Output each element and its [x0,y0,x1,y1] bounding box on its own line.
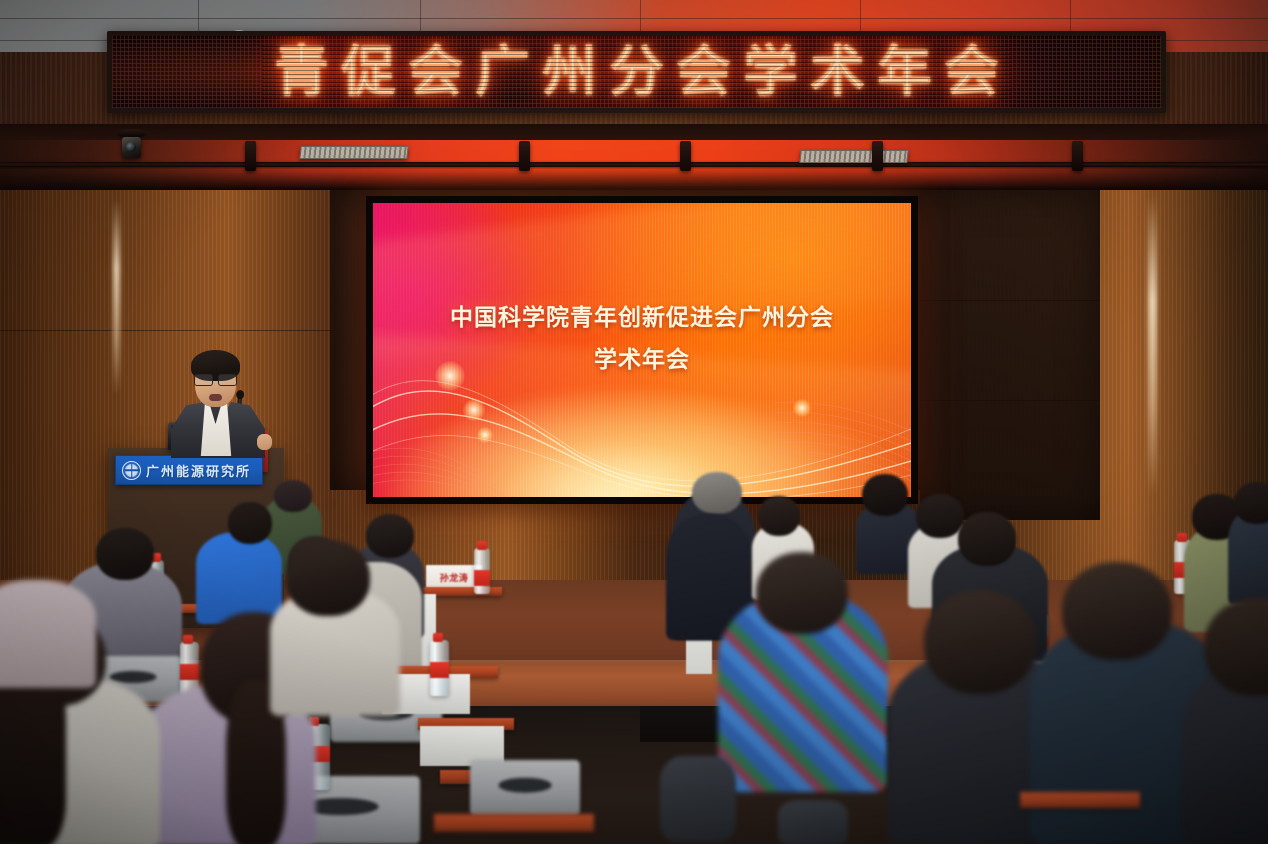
ceiling-air-vent [799,150,908,163]
audience-head [862,474,908,516]
bag [778,800,848,844]
speaker-mouth [209,394,222,401]
desk [1020,792,1140,808]
desk [434,814,594,832]
audience-head [274,480,312,512]
ptz-security-camera-icon [112,129,150,165]
wall-seam [920,400,1100,401]
slide-title-line2: 学术年会 [373,343,911,376]
wall-light-streak [113,200,120,395]
wall-seam [920,300,1100,301]
led-banner-text: 青促会广州分会学术年会 [262,45,1012,99]
water-bottle [474,548,490,594]
audience-head [366,514,414,558]
speaker-hand [257,434,272,450]
ceiling-seam [0,18,1268,19]
bottle-cap [1177,533,1187,542]
bottle-cap [433,633,443,642]
audience-head [96,528,154,580]
audience-area: 孙龙涛 [0,470,1268,844]
wall-seam [0,330,330,331]
audience-head [692,472,742,514]
water-bottle [430,640,449,696]
audience-head [228,502,272,544]
slide-title-block: 中国科学院青年创新促进会广州分会 学术年会 [373,301,911,377]
bottle-cap [477,541,487,550]
bottle-label [430,662,449,678]
audience-head [958,512,1016,566]
projection-screen-frame: 中国科学院青年创新促进会广州分会 学术年会 [366,196,918,504]
slide-title-line1: 中国科学院青年创新促进会广州分会 [373,301,911,334]
audience-person [0,580,96,688]
chair-handle-slot [499,778,552,793]
bottle-cap [183,635,193,644]
speaker-presenter [165,342,277,454]
track-light-fixture [872,141,883,171]
ceiling-air-vent [299,146,408,159]
bottle-label [474,570,490,586]
track-light-fixture [245,141,256,171]
conference-hall-photo: 青促会广州分会学术年会 [0,0,1268,844]
camera-lens [126,142,136,152]
chair-back [470,760,580,816]
audience-head [924,590,1036,694]
track-light-fixture [680,141,691,171]
audience-head [286,540,370,616]
backpack [660,756,736,842]
audience-head [916,494,964,538]
glasses-icon [194,374,237,384]
wall-light-streak [1148,196,1157,496]
chair-handle-slot [109,671,156,683]
audience-head [1234,482,1268,524]
audience-person [196,532,282,624]
projection-screen: 中国科学院青年创新促进会广州分会 学术年会 [373,203,911,497]
track-light-fixture [1072,141,1083,171]
audience-head [758,496,800,536]
desk-nameplate-text: 孙龙涛 [440,571,469,584]
bottle-label [180,664,199,680]
audience-head [756,552,848,634]
audience-head [1062,562,1172,660]
track-light-fixture [519,141,530,171]
led-scrolling-banner: 青促会广州分会学术年会 [107,31,1166,113]
